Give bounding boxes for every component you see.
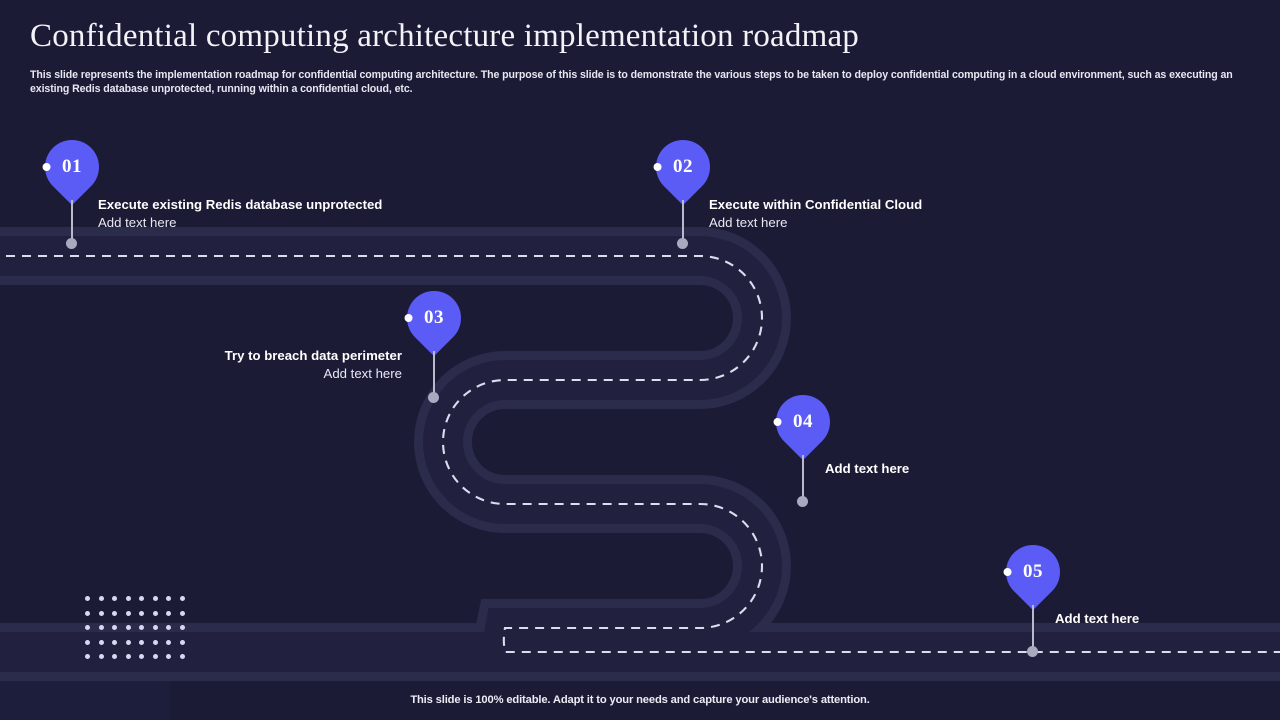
pin-stem bbox=[682, 200, 684, 242]
grid-dot bbox=[126, 640, 131, 645]
grid-dot bbox=[85, 596, 90, 601]
grid-dot bbox=[99, 625, 104, 630]
map-pin-icon bbox=[396, 280, 472, 356]
grid-dot bbox=[99, 654, 104, 659]
milestone-text-block: Execute existing Redis database unprotec… bbox=[98, 196, 382, 232]
grid-dot bbox=[153, 625, 158, 630]
grid-dot bbox=[126, 596, 131, 601]
map-pin-icon bbox=[645, 129, 721, 205]
milestone-text-block: Execute within Confidential Cloud Add te… bbox=[709, 196, 922, 232]
page-subtitle: This slide represents the implementation… bbox=[30, 68, 1245, 96]
pin-endpoint-dot bbox=[1027, 646, 1038, 657]
grid-dot bbox=[153, 640, 158, 645]
pin-endpoint-dot bbox=[677, 238, 688, 249]
grid-dot bbox=[85, 625, 90, 630]
grid-dot bbox=[166, 625, 171, 630]
grid-dot bbox=[112, 640, 117, 645]
grid-dot bbox=[126, 654, 131, 659]
milestone-heading: Execute existing Redis database unprotec… bbox=[98, 196, 382, 214]
milestone-text-block: Add text here bbox=[825, 460, 909, 478]
grid-dot bbox=[139, 625, 144, 630]
dot-grid-decoration bbox=[85, 596, 193, 669]
milestone-heading: Execute within Confidential Cloud bbox=[709, 196, 922, 214]
grid-dot bbox=[112, 654, 117, 659]
milestone-heading: Add text here bbox=[825, 460, 909, 478]
grid-dot bbox=[112, 596, 117, 601]
map-pin-icon bbox=[34, 129, 110, 205]
grid-dot bbox=[180, 611, 185, 616]
milestone-heading: Try to breach data perimeter bbox=[197, 347, 402, 365]
grid-dot bbox=[153, 654, 158, 659]
grid-dot bbox=[139, 596, 144, 601]
pin-endpoint-dot bbox=[797, 496, 808, 507]
grid-dot bbox=[99, 640, 104, 645]
pin-stem bbox=[433, 351, 435, 396]
grid-dot bbox=[166, 654, 171, 659]
grid-dot bbox=[99, 611, 104, 616]
milestone-subtext: Add text here bbox=[98, 214, 382, 232]
slide-canvas: Confidential computing architecture impl… bbox=[0, 0, 1280, 720]
grid-dot bbox=[180, 654, 185, 659]
grid-dot bbox=[153, 611, 158, 616]
grid-dot bbox=[180, 640, 185, 645]
grid-dot bbox=[85, 611, 90, 616]
grid-dot bbox=[112, 625, 117, 630]
milestone-subtext: Add text here bbox=[709, 214, 922, 232]
grid-dot bbox=[139, 611, 144, 616]
milestone-text-block: Add text here bbox=[1055, 610, 1139, 628]
grid-dot bbox=[139, 640, 144, 645]
grid-dot bbox=[139, 654, 144, 659]
milestone-heading: Add text here bbox=[1055, 610, 1139, 628]
grid-dot bbox=[180, 625, 185, 630]
map-pin-icon bbox=[765, 384, 841, 460]
grid-dot bbox=[166, 611, 171, 616]
pin-endpoint-dot bbox=[66, 238, 77, 249]
grid-dot bbox=[126, 611, 131, 616]
grid-dot bbox=[126, 625, 131, 630]
grid-dot bbox=[166, 596, 171, 601]
milestone-subtext: Add text here bbox=[197, 365, 402, 383]
grid-dot bbox=[112, 611, 117, 616]
grid-dot bbox=[153, 596, 158, 601]
pin-stem bbox=[802, 455, 804, 500]
pin-endpoint-dot bbox=[428, 392, 439, 403]
map-pin-icon bbox=[995, 534, 1071, 610]
grid-dot bbox=[85, 640, 90, 645]
grid-dot bbox=[180, 596, 185, 601]
grid-dot bbox=[85, 654, 90, 659]
grid-dot bbox=[99, 596, 104, 601]
grid-dot bbox=[166, 640, 171, 645]
milestone-text-block: Try to breach data perimeter Add text he… bbox=[197, 347, 402, 383]
page-title: Confidential computing architecture impl… bbox=[30, 18, 859, 55]
editable-note: This slide is 100% editable. Adapt it to… bbox=[0, 694, 1280, 706]
pin-stem bbox=[71, 200, 73, 242]
